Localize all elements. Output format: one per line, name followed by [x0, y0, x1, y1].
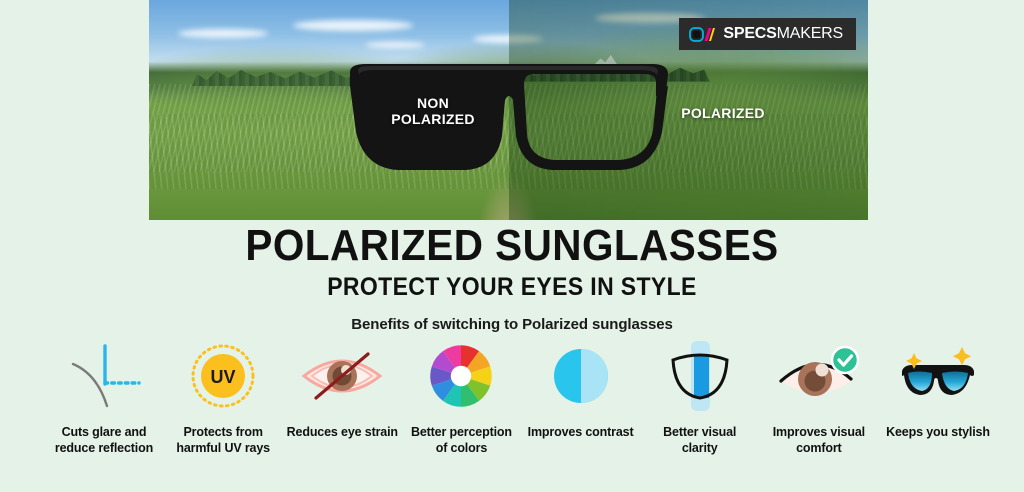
benefit-label: Protects from harmful UV rays	[167, 424, 279, 456]
eye-comfort-check-icon	[774, 338, 864, 414]
visual-clarity-icon	[655, 338, 745, 414]
page-title: POLARIZED SUNGLASSES	[41, 224, 983, 268]
benefit-label: Cuts glare and reduce reflection	[48, 424, 160, 456]
contrast-circle-icon	[536, 338, 626, 414]
color-wheel-icon	[416, 338, 506, 414]
eye-strain-icon	[297, 338, 387, 414]
benefit-item-uv-protection: UV Protects from harmful UV rays	[167, 338, 279, 456]
uv-shield-icon: UV	[178, 338, 268, 414]
benefit-item-visual-comfort: Improves visual comfort	[763, 338, 875, 456]
benefit-label: Reduces eye strain	[287, 424, 398, 440]
cloud	[365, 42, 425, 48]
lens-label-polarized: POLARIZED	[669, 106, 777, 122]
benefit-item-keeps-you-stylish: Keeps you stylish	[882, 338, 994, 440]
page-subtitle: PROTECT YOUR EYES IN STYLE	[41, 275, 983, 300]
benefit-item-reduces-eye-strain: Reduces eye strain	[286, 338, 398, 440]
hero-banner: SPECSMAKERS NON POLARIZED POLARIZED	[149, 0, 868, 220]
uv-badge-text: UV	[211, 367, 236, 387]
lens-label-non-polarized: NON POLARIZED	[387, 96, 479, 127]
page-tagline: Benefits of switching to Polarized sungl…	[0, 316, 1024, 333]
benefit-item-cuts-glare: Cuts glare and reduce reflection	[48, 338, 160, 456]
benefit-item-visual-clarity: Better visual clarity	[644, 338, 756, 456]
specs-logo-icon	[689, 26, 715, 43]
brand-name-bold: SPECS	[723, 25, 776, 42]
cloud	[293, 20, 413, 31]
stylish-sunglasses-icon	[893, 338, 983, 414]
cloud	[178, 29, 268, 38]
benefit-label: Better visual clarity	[644, 424, 756, 456]
glare-reflection-icon	[59, 338, 149, 414]
brand-logo[interactable]: SPECSMAKERS	[679, 18, 856, 50]
benefit-item-color-perception: Better perception of colors	[405, 338, 517, 456]
brand-logo-text: SPECSMAKERS	[723, 25, 843, 43]
benefit-label: Better perception of colors	[405, 424, 517, 456]
benefits-list: Cuts glare and reduce reflection UV Prot…	[48, 338, 994, 456]
infographic-page: SPECSMAKERS NON POLARIZED POLARIZED POLA…	[0, 0, 1024, 492]
benefit-label: Keeps you stylish	[886, 424, 990, 440]
benefit-label: Improves contrast	[528, 424, 634, 440]
benefit-label: Improves visual comfort	[763, 424, 875, 456]
headings-block: POLARIZED SUNGLASSES PROTECT YOUR EYES I…	[0, 224, 1024, 333]
brand-name-light: MAKERS	[777, 25, 843, 42]
benefit-item-improves-contrast: Improves contrast	[525, 338, 637, 440]
